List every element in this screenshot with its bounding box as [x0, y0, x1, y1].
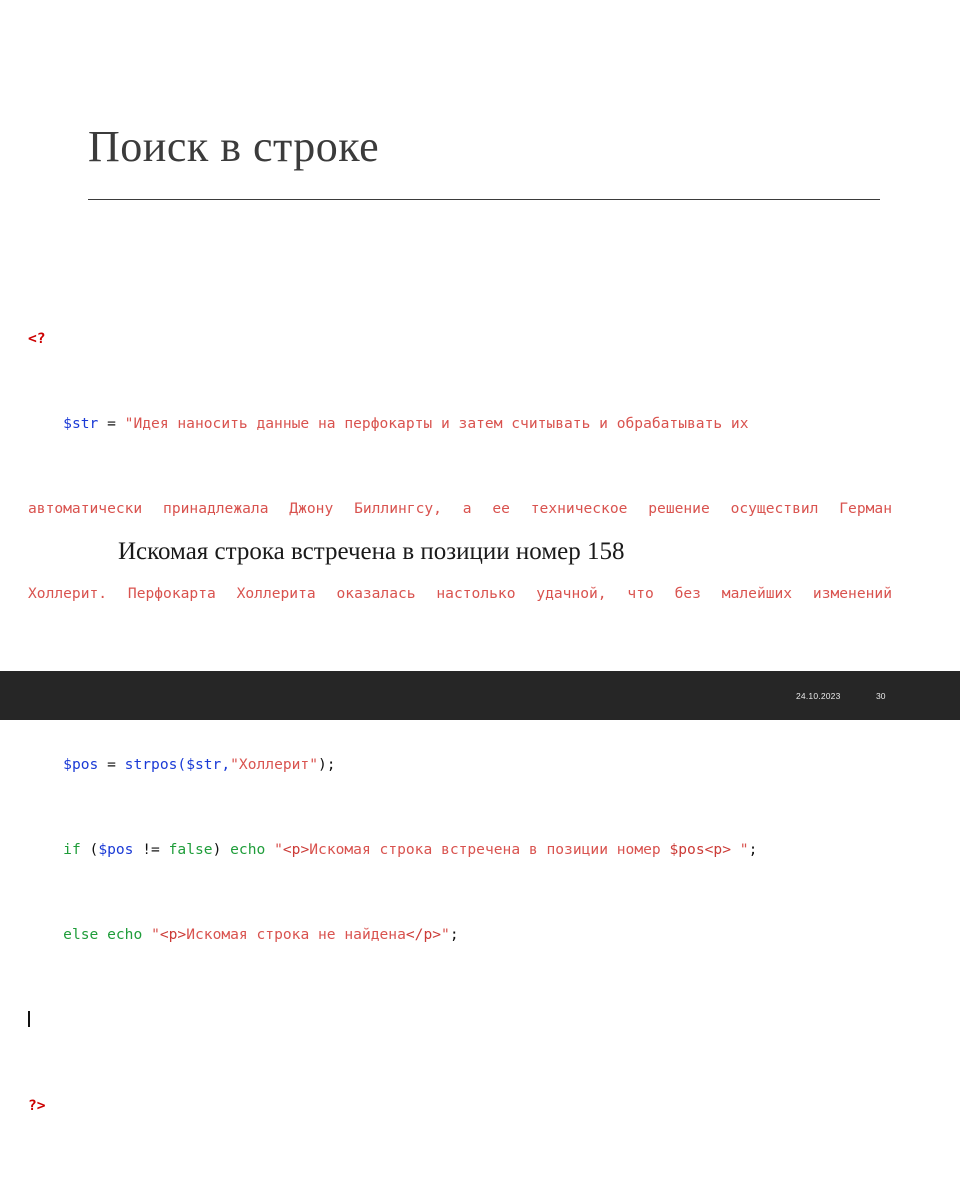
- html-tag-open: <p>: [160, 926, 186, 943]
- php-open-tag: <?: [28, 330, 46, 347]
- footer-page-number: 30: [876, 691, 885, 701]
- echo-close-quote: ": [441, 926, 450, 943]
- html-tag-close: </p>: [406, 926, 441, 943]
- footer-date: 24.10.2023: [796, 691, 841, 701]
- statement-terminator-2: ;: [749, 841, 758, 858]
- paren-close-semicolon: );: [318, 756, 336, 773]
- function-strpos: strpos: [125, 756, 178, 773]
- keyword-false: false: [169, 841, 213, 858]
- variable-pos: $pos: [98, 841, 133, 858]
- code-line-str-cont-3: Холлерит. Перфокарта Холлерита оказалась…: [28, 583, 892, 604]
- code-line-if-echo: if ($pos != false) echo "<p>Искомая стро…: [28, 839, 892, 860]
- keyword-echo: echo: [230, 841, 265, 858]
- arg-needle: "Холлерит": [230, 756, 318, 773]
- not-equal-operator: !=: [133, 841, 168, 858]
- cond-paren-close: ): [213, 841, 231, 858]
- html-tag-open: <p>: [283, 841, 309, 858]
- echo-open-quote: ": [151, 926, 160, 943]
- keyword-echo: echo: [107, 926, 142, 943]
- space: [98, 926, 107, 943]
- string-segment-1: Идея наносить данные на перфокарты и зат…: [133, 415, 748, 432]
- html-tag-close: <p>: [705, 841, 731, 858]
- code-line-open-tag: <?: [28, 328, 892, 349]
- variable-str: $str: [63, 415, 98, 432]
- space: [265, 841, 274, 858]
- paren-open: (: [177, 756, 186, 773]
- code-indent: [28, 756, 63, 773]
- variable-pos: $pos: [63, 756, 98, 773]
- slide: Поиск в строке <? $str = "Идея наносить …: [0, 0, 960, 720]
- interpolated-variable-pos: $pos: [669, 841, 704, 858]
- code-indent: [28, 926, 63, 943]
- assign-operator: =: [98, 756, 124, 773]
- echo-open-quote: ": [274, 841, 283, 858]
- code-line-str-cont-2: автоматически принадлежала Джону Биллинг…: [28, 498, 892, 519]
- code-line-strpos: $pos = strpos($str,"Холлерит");: [28, 754, 892, 775]
- space: [142, 926, 151, 943]
- statement-terminator-3: ;: [450, 926, 459, 943]
- arg-separator: ,: [221, 756, 230, 773]
- page-title: Поиск в строке: [88, 119, 888, 175]
- code-indent: [28, 415, 63, 432]
- keyword-if: if: [63, 841, 81, 858]
- keyword-else: else: [63, 926, 98, 943]
- cond-paren-open: (: [81, 841, 99, 858]
- code-indent: [28, 841, 63, 858]
- code-line-else-echo: else echo "<p>Искомая строка не найдена<…: [28, 924, 892, 945]
- code-line-caret[interactable]: [28, 1009, 892, 1030]
- echo-trailing-space: [731, 841, 740, 858]
- echo-text-found: Искомая строка встречена в позиции номер: [309, 841, 669, 858]
- string-segment-2: автоматически принадлежала Джону Биллинг…: [28, 500, 892, 517]
- assign-operator: =: [98, 415, 124, 432]
- text-cursor-caret: [28, 1011, 30, 1027]
- php-close-tag: ?>: [28, 1097, 46, 1114]
- browser-output-text: Искомая строка встречена в позиции номер…: [118, 536, 624, 568]
- echo-close-quote: ": [740, 841, 749, 858]
- echo-text-notfound: Искомая строка не найдена: [186, 926, 406, 943]
- string-segment-3: Холлерит. Перфокарта Холлерита оказалась…: [28, 585, 892, 602]
- code-line-close-tag: ?>: [28, 1095, 892, 1116]
- code-line-str-assign: $str = "Идея наносить данные на перфокар…: [28, 413, 892, 434]
- code-block: <? $str = "Идея наносить данные на перфо…: [28, 264, 892, 1180]
- arg-str: $str: [186, 756, 221, 773]
- title-divider: [88, 199, 880, 200]
